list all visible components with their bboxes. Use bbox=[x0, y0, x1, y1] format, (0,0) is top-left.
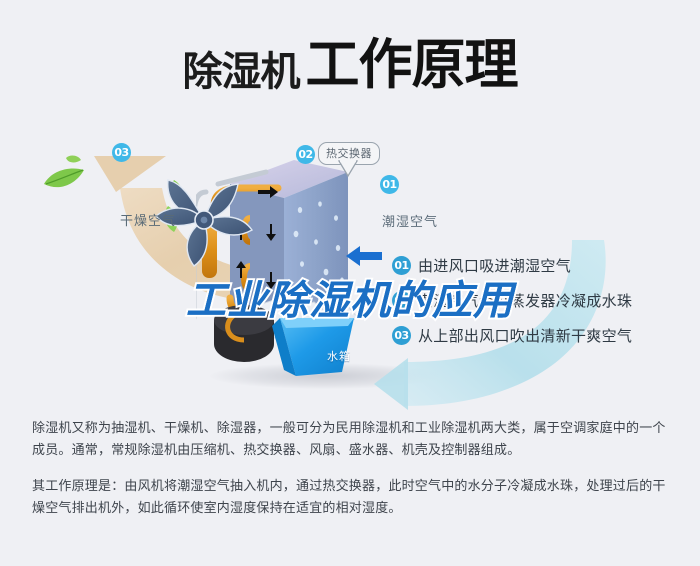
paragraph-1: 除湿机又称为抽湿机、干燥机、除湿器，一般可分为民用除湿机和工业除湿机两大类，属于… bbox=[32, 418, 672, 462]
step-text: 潮湿空气经过蒸发器冷凝成水珠 bbox=[418, 290, 632, 311]
step-badge: 03 bbox=[392, 326, 411, 345]
dry-air-label: 干燥空气 bbox=[120, 210, 176, 229]
list-item: 01 由进风口吸进潮湿空气 bbox=[392, 255, 692, 290]
page-title: 除湿机工作原理 bbox=[0, 20, 700, 99]
leaf-icon bbox=[36, 154, 106, 204]
water-tank-label: 水箱 bbox=[327, 348, 351, 364]
step-badge: 01 bbox=[392, 256, 411, 275]
process-step-list: 01 由进风口吸进潮湿空气 02 潮湿空气经过蒸发器冷凝成水珠 03 从上部出风… bbox=[392, 255, 692, 360]
diagram-badge-01: 01 bbox=[380, 175, 399, 194]
diagram-badge-03: 03 bbox=[112, 143, 131, 162]
paragraph-2: 其工作原理是：由风机将潮湿空气抽入机内，通过热交换器，此时空气中的水分子冷凝成水… bbox=[32, 476, 672, 520]
step-text: 由进风口吸进潮湿空气 bbox=[418, 255, 571, 276]
page-title-prefix: 除湿机 bbox=[183, 49, 300, 95]
diagram-badge-02: 02 bbox=[296, 145, 315, 164]
step-badge: 02 bbox=[392, 291, 411, 310]
callout-pointer-icon bbox=[337, 160, 359, 178]
body-copy: 除湿机又称为抽湿机、干燥机、除湿器，一般可分为民用除湿机和工业除湿机两大类，属于… bbox=[32, 418, 672, 520]
page-title-main: 工作原理 bbox=[306, 33, 518, 96]
list-item: 03 从上部出风口吹出清新干爽空气 bbox=[392, 325, 692, 360]
list-item: 02 潮湿空气经过蒸发器冷凝成水珠 bbox=[392, 290, 692, 325]
humid-air-label: 潮湿空气 bbox=[382, 211, 438, 230]
step-text: 从上部出风口吹出清新干爽空气 bbox=[418, 325, 632, 346]
